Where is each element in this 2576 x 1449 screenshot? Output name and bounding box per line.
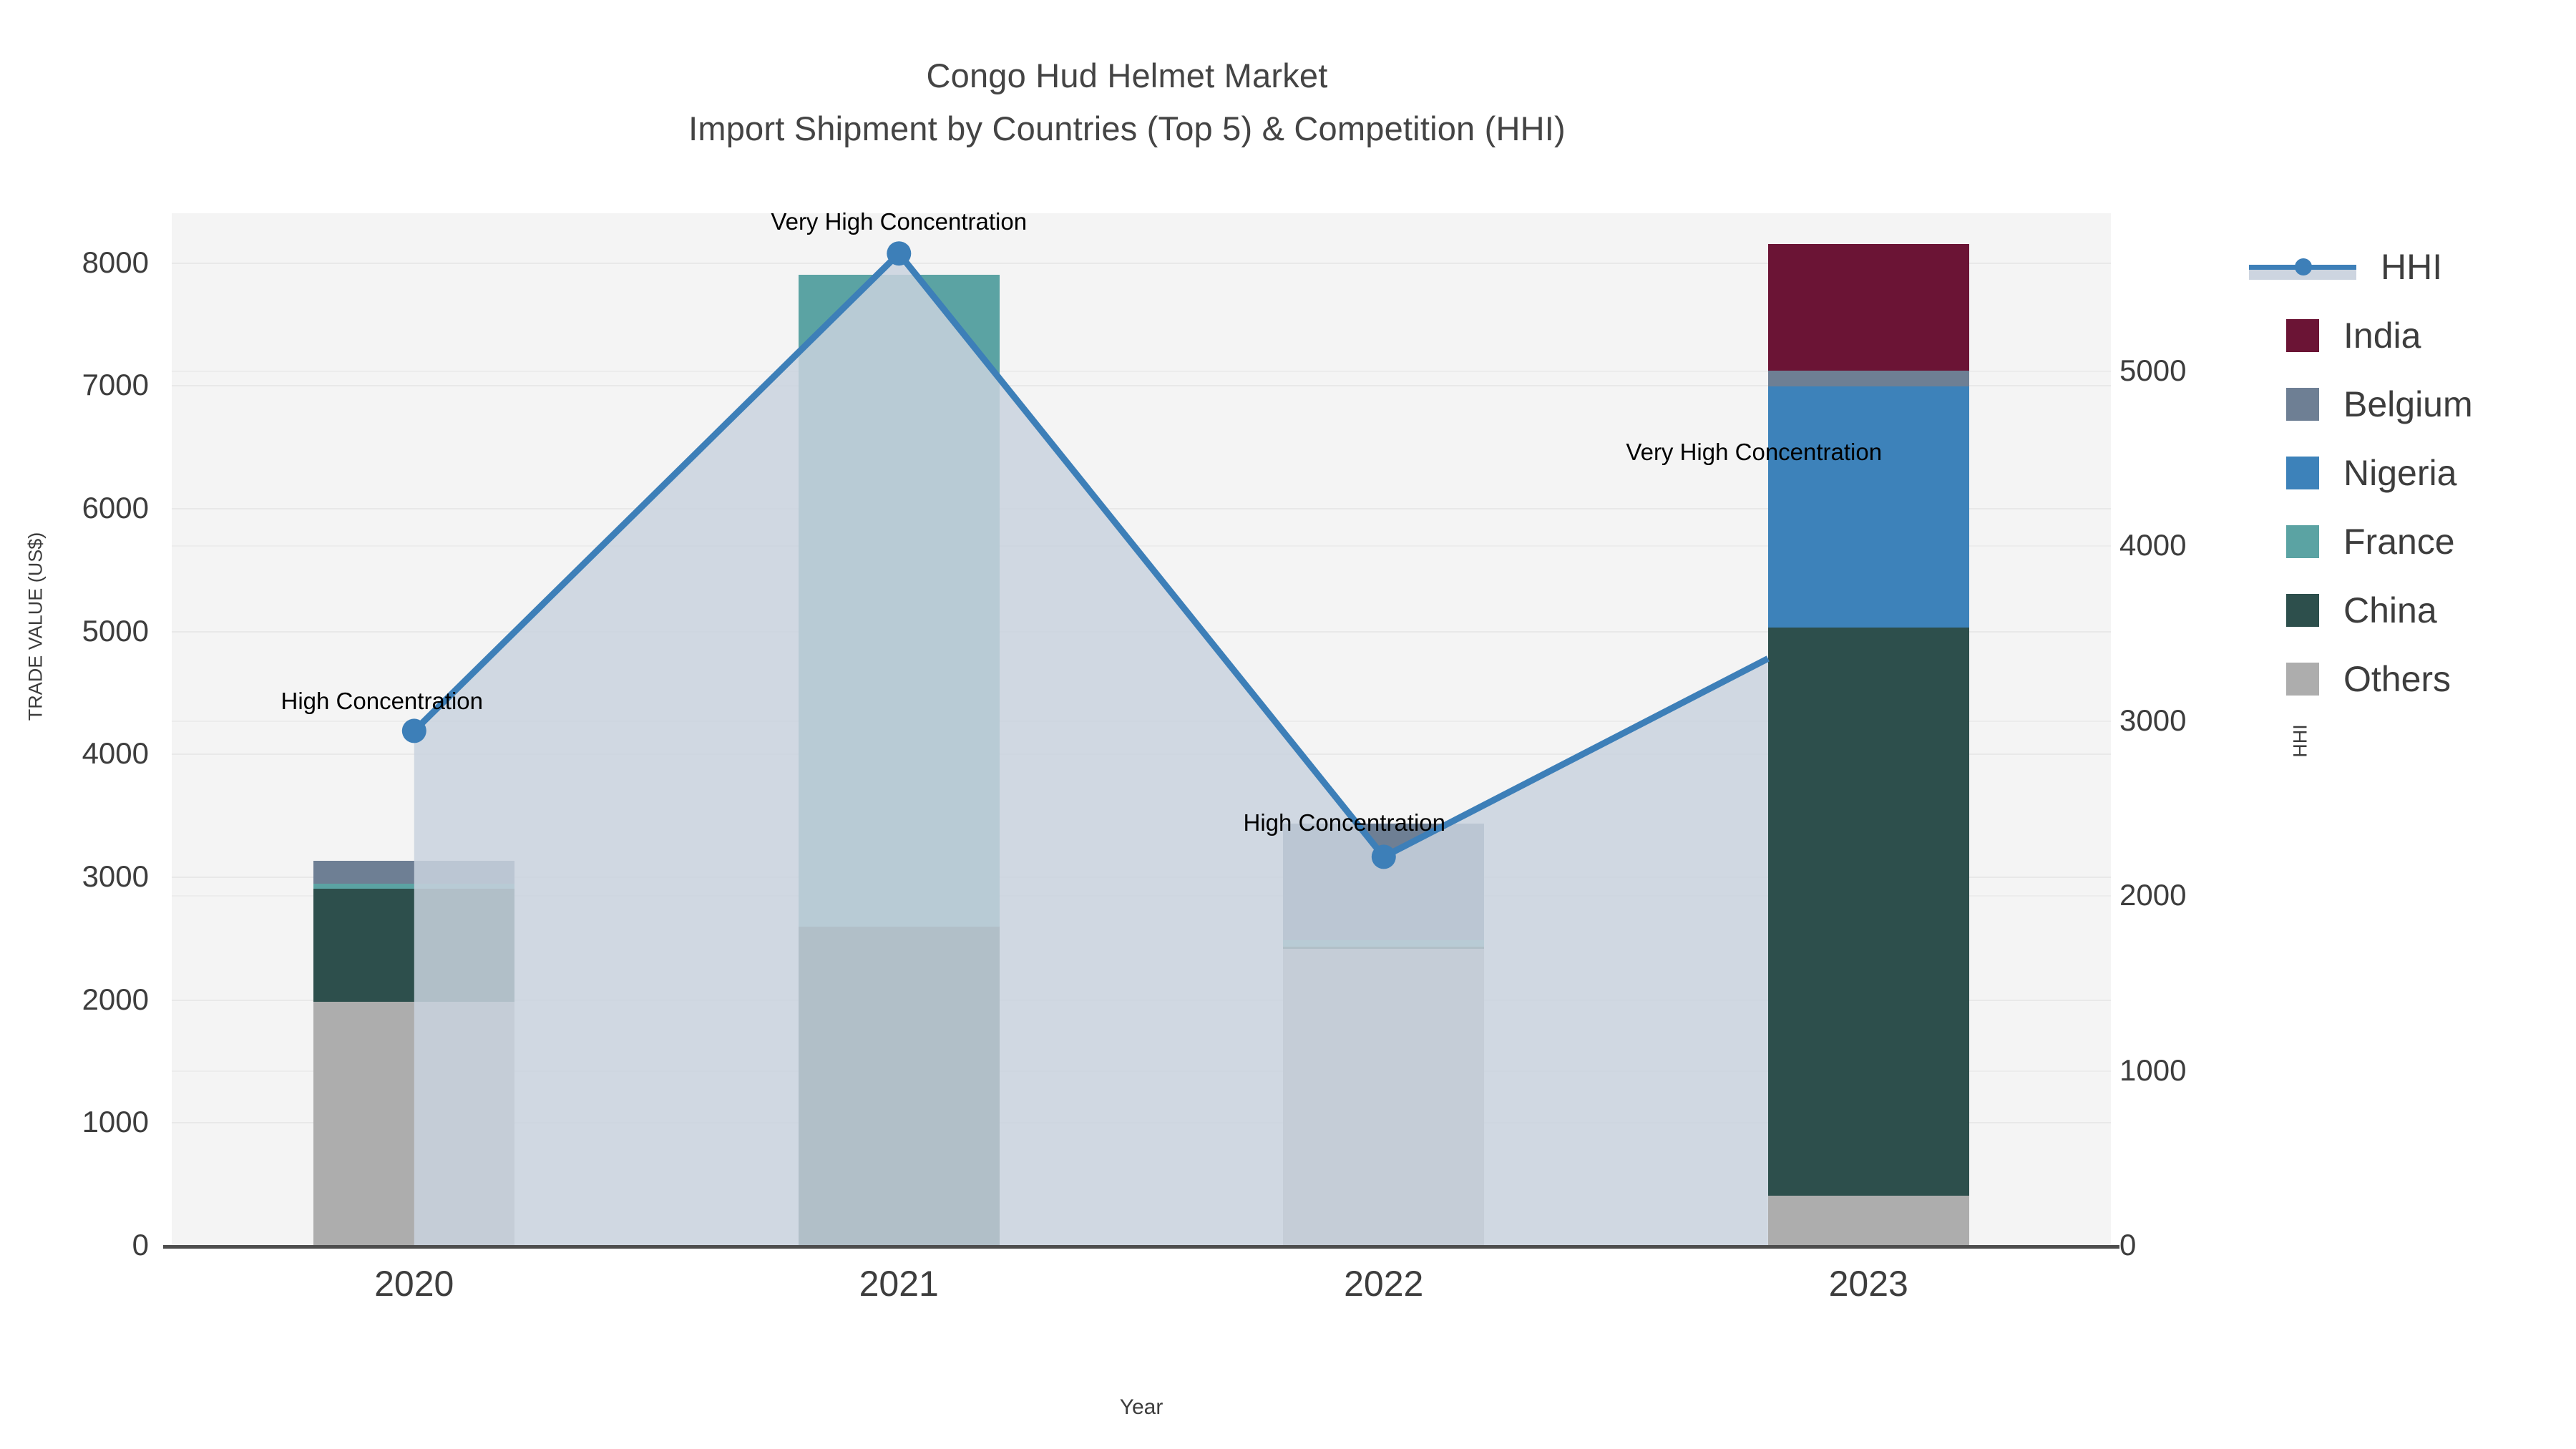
y-axis-left-ticks: 010002000300040005000600070008000	[0, 0, 149, 1449]
legend-item-hhi[interactable]: HHI	[2286, 233, 2572, 301]
legend-item-label: China	[2343, 590, 2437, 631]
legend-item-label: France	[2343, 521, 2455, 562]
hhi-overlay-layer	[172, 213, 2111, 1245]
legend-color-swatch	[2286, 319, 2319, 352]
legend-item-label: India	[2343, 315, 2421, 356]
chart-title-block: Congo Hud Helmet Market Import Shipment …	[0, 54, 2254, 150]
hhi-annotation-label: Very High Concentration	[1626, 439, 1882, 466]
y-tick-label-right: 5000	[2119, 353, 2298, 388]
x-tick-label: 2023	[1754, 1263, 1983, 1304]
hhi-area-fill	[414, 253, 1768, 1245]
legend-item-label: Belgium	[2343, 384, 2473, 425]
legend-item-label: Nigeria	[2343, 452, 2457, 494]
legend-item-label: Others	[2343, 658, 2451, 700]
y-tick-label-right: 1000	[2119, 1053, 2298, 1088]
legend-item-others[interactable]: Others	[2286, 645, 2572, 713]
legend-item-nigeria[interactable]: Nigeria	[2286, 439, 2572, 507]
x-tick-label: 2020	[300, 1263, 529, 1304]
x-tick-label: 2021	[784, 1263, 1013, 1304]
x-axis-line	[163, 1245, 2119, 1249]
legend-color-swatch	[2286, 594, 2319, 627]
legend-color-swatch	[2286, 457, 2319, 489]
x-axis-label: Year	[172, 1395, 2111, 1420]
y-tick-label-right: 2000	[2119, 878, 2298, 912]
legend-color-swatch	[2286, 525, 2319, 558]
y-axis-left-label: TRADE VALUE (US$)	[25, 441, 47, 813]
y-tick-label-right: 4000	[2119, 528, 2298, 562]
y-axis-right-ticks: 010002000300040005000	[2119, 0, 2420, 1449]
legend-line-icon	[2249, 250, 2356, 283]
chart-title-line1: Congo Hud Helmet Market	[0, 54, 2254, 97]
legend-item-belgium[interactable]: Belgium	[2286, 370, 2572, 439]
chart-legend: HHIIndiaBelgiumNigeriaFranceChinaOthers	[2286, 233, 2572, 713]
hhi-data-point-marker	[1372, 844, 1396, 869]
hhi-data-point-marker	[402, 718, 426, 743]
y-tick-label-left: 7000	[6, 368, 149, 402]
legend-item-india[interactable]: India	[2286, 301, 2572, 370]
chart-title-line2: Import Shipment by Countries (Top 5) & C…	[0, 107, 2254, 150]
y-tick-label-left: 8000	[6, 245, 149, 280]
legend-color-swatch	[2286, 663, 2319, 696]
legend-color-swatch	[2286, 388, 2319, 421]
y-tick-label-left: 2000	[6, 982, 149, 1017]
x-tick-label: 2022	[1269, 1263, 1498, 1304]
y-tick-label-right: 0	[2119, 1228, 2298, 1262]
legend-item-china[interactable]: China	[2286, 576, 2572, 645]
chart-figure: Congo Hud Helmet Market Import Shipment …	[0, 0, 2576, 1449]
hhi-data-point-marker	[887, 241, 911, 265]
y-tick-label-right: 3000	[2119, 703, 2298, 738]
hhi-annotation-label: High Concentration	[1244, 809, 1446, 836]
legend-item-label: HHI	[2381, 246, 2442, 288]
legend-item-france[interactable]: France	[2286, 507, 2572, 576]
hhi-annotation-label: Very High Concentration	[771, 208, 1027, 235]
hhi-line-svg	[172, 213, 2111, 1245]
y-tick-label-left: 1000	[6, 1105, 149, 1139]
y-tick-label-left: 3000	[6, 859, 149, 894]
hhi-annotation-label: High Concentration	[281, 688, 484, 715]
y-tick-label-left: 0	[6, 1228, 149, 1262]
